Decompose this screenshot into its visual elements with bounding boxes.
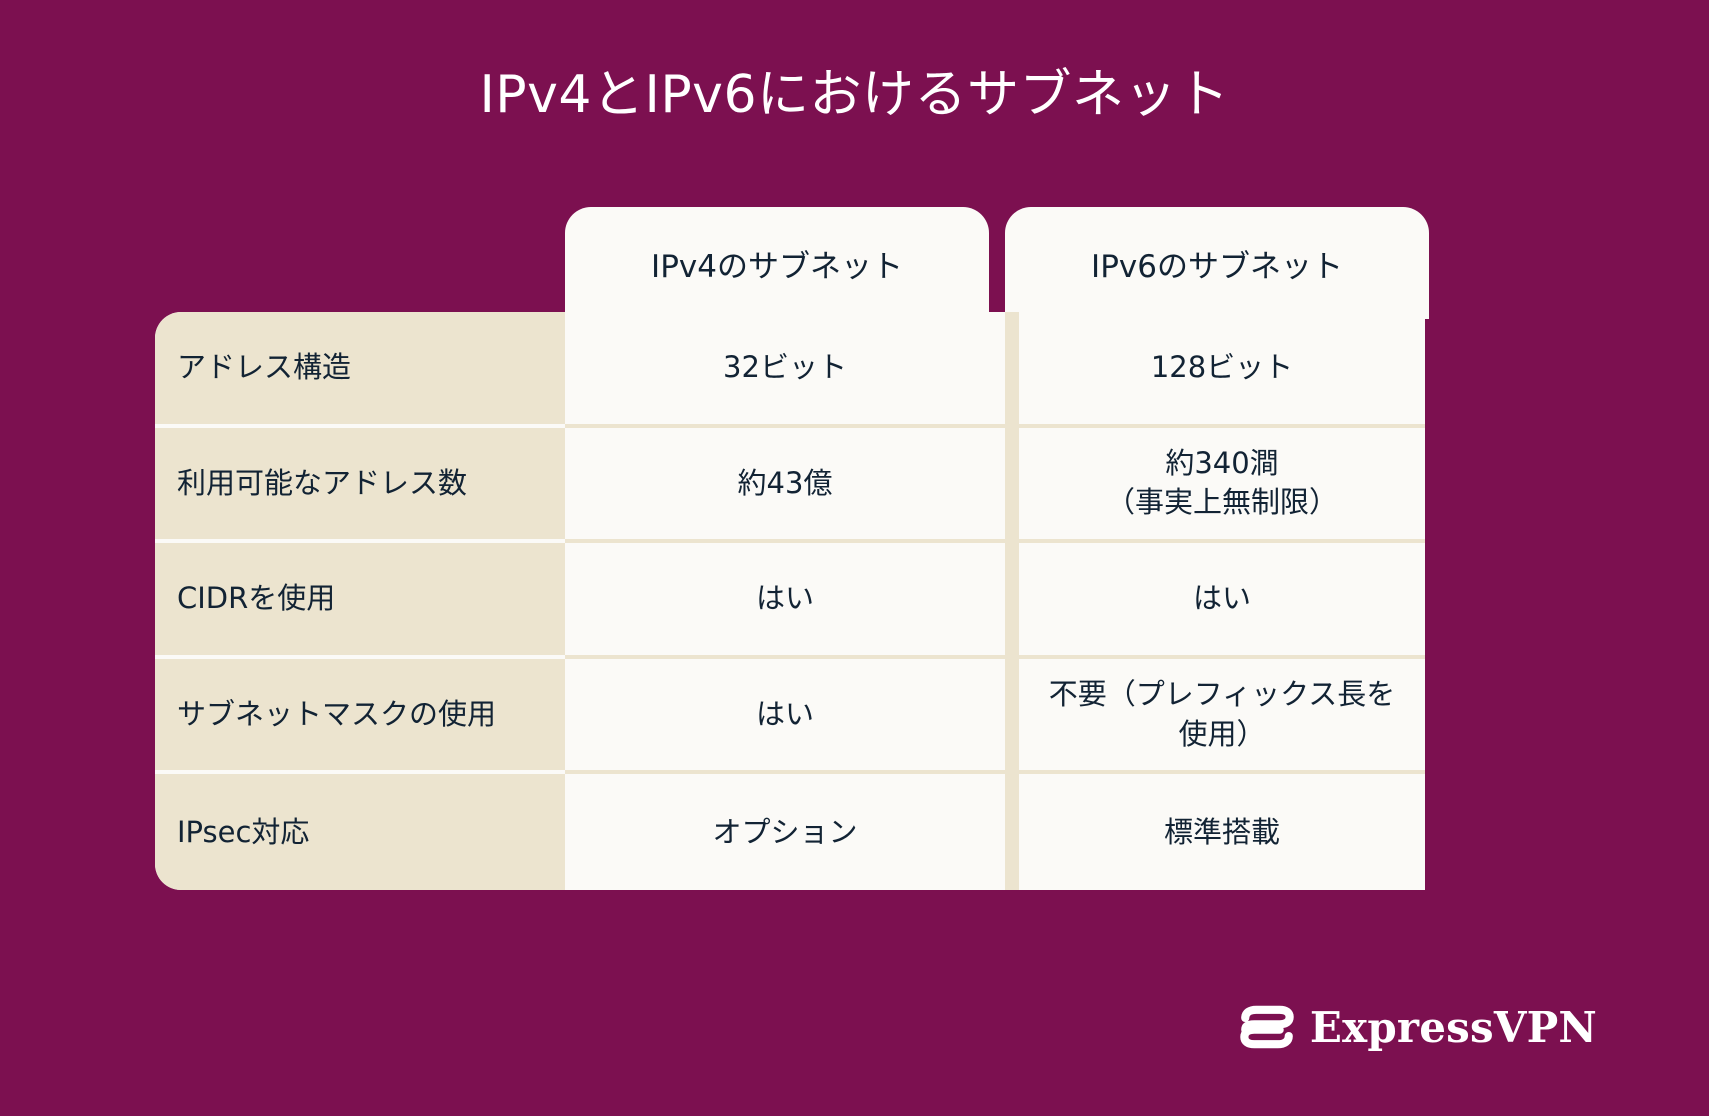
row-label: CIDRを使用 [177, 579, 335, 618]
column-header-ipv6-label: IPv6のサブネット [1091, 241, 1343, 286]
row-label: サブネットマスクの使用 [177, 695, 496, 734]
cell-ipv4: はい [565, 543, 1005, 659]
cell-value: はい [756, 579, 814, 618]
table-body: アドレス構造 32ビット 128ビット 利用可能なアドレス数 約43億 約340… [155, 312, 1425, 890]
table-row: 利用可能なアドレス数 [155, 428, 565, 544]
page-title: IPv4とIPv6におけるサブネット [0, 64, 1709, 126]
expressvpn-logo-icon [1238, 998, 1296, 1056]
cell-value: 約43億 [738, 464, 833, 503]
cell-value: はい [1193, 579, 1251, 618]
table-row: IPsec対応 [155, 774, 565, 890]
column-header-ipv4: IPv4のサブネット [565, 207, 989, 319]
cell-ipv4: 約43億 [565, 428, 1005, 544]
cell-value: はい [756, 695, 814, 734]
brand-logo: ExpressVPN [1238, 998, 1597, 1056]
cell-ipv6: 約340澗（事実上無制限） [1005, 428, 1425, 544]
cell-value: 約340澗（事実上無制限） [1106, 444, 1338, 522]
cell-ipv4: オプション [565, 774, 1005, 890]
cell-value: 標準搭載 [1164, 813, 1280, 852]
brand-name: ExpressVPN [1310, 1003, 1597, 1052]
cell-ipv4: はい [565, 659, 1005, 775]
cell-value: 128ビット [1151, 348, 1293, 387]
row-label: IPsec対応 [177, 813, 309, 852]
cell-value: オプション [712, 813, 857, 852]
infographic-page: IPv4とIPv6におけるサブネット IPv4のサブネット IPv6のサブネット… [0, 0, 1709, 1116]
cell-ipv6: 128ビット [1005, 312, 1425, 428]
cell-ipv6: はい [1005, 543, 1425, 659]
table-row: サブネットマスクの使用 [155, 659, 565, 775]
cell-value: 不要（プレフィックス長を使用） [1045, 675, 1399, 753]
cell-ipv6: 不要（プレフィックス長を使用） [1005, 659, 1425, 775]
table-row: アドレス構造 [155, 312, 565, 428]
comparison-table: IPv4のサブネット IPv6のサブネット アドレス構造 32ビット 128ビッ… [155, 207, 1567, 890]
table-grid: アドレス構造 32ビット 128ビット 利用可能なアドレス数 約43億 約340… [155, 312, 1425, 890]
cell-value: 32ビット [723, 348, 847, 387]
row-label: 利用可能なアドレス数 [177, 464, 467, 503]
column-header-ipv4-label: IPv4のサブネット [651, 241, 903, 286]
table-row: CIDRを使用 [155, 543, 565, 659]
cell-ipv4: 32ビット [565, 312, 1005, 428]
cell-ipv6: 標準搭載 [1005, 774, 1425, 890]
column-header-ipv6: IPv6のサブネット [1005, 207, 1429, 319]
row-label: アドレス構造 [177, 348, 351, 387]
